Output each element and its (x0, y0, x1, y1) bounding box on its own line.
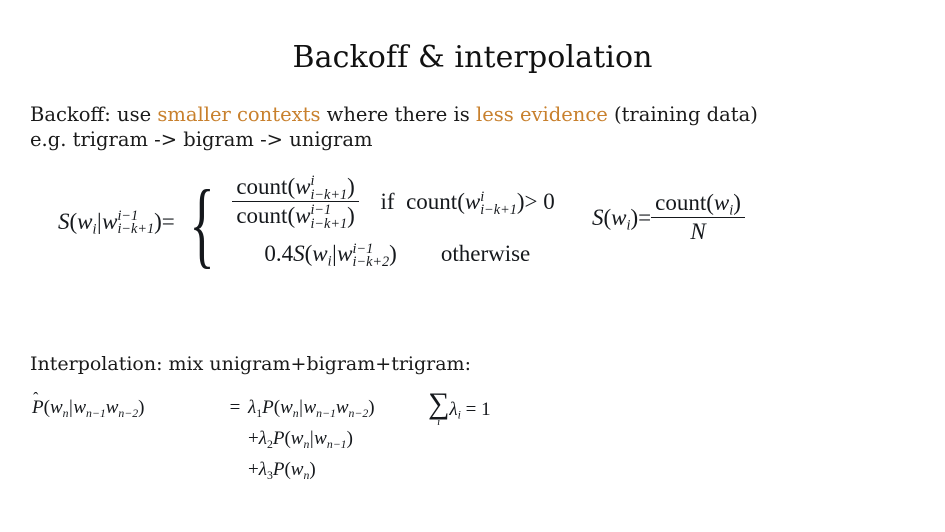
term1-w3-sub: n−2 (349, 407, 369, 420)
term2-w2: w (314, 428, 327, 449)
unigram-close-paren: ) (630, 205, 638, 230)
condition-count-label: count (406, 189, 457, 214)
interpolation-lhs-w2-sub: n−1 (86, 407, 106, 420)
interpolation-lhs-w2: w (73, 397, 86, 418)
unigram-numerator-close-paren: ) (733, 190, 741, 215)
condition-close-paren: ) (517, 189, 525, 214)
interpolation-rhs-term-2: +λ2P(wn|wn−1) (248, 423, 353, 454)
backoff-lhs-equals: = (162, 209, 175, 234)
slide-title: Backoff & interpolation (0, 40, 945, 75)
case2-w-sub: i (328, 254, 332, 270)
interpolation-lhs-w: w (50, 397, 63, 418)
denominator-count-label: count (236, 203, 287, 228)
condition-w: w (465, 189, 480, 214)
interpolation-P-hat: ˆP (32, 392, 44, 423)
denominator-close-paren: ) (347, 203, 355, 228)
backoff-description-line: Backoff: use smaller contexts where ther… (30, 101, 758, 129)
backoff-case1-numerator: count(wii−k+1) (232, 174, 358, 201)
denominator-open-paren: ( (287, 203, 295, 228)
backoff-lhs-S: S (58, 209, 70, 234)
numerator-count-label: count (236, 174, 287, 199)
term1-P: P (262, 397, 274, 418)
condition-relation: > 0 (525, 189, 555, 214)
backoff-case1-condition: if count(wii−k+1)> 0 (365, 189, 555, 214)
unigram-equals: = (638, 205, 651, 230)
backoff-case-1: count(wii−k+1) count(wi−1i−k+1) if count… (222, 176, 554, 231)
lambda-sum-equals-one: = 1 (466, 399, 491, 420)
lambda-sum-symbol: λ (449, 399, 457, 420)
interpolation-lhs: ˆP(wn|wn−1wn−2) (32, 392, 222, 423)
term1-w-sub: n (293, 407, 299, 420)
backoff-text-segment-5: (training data) (608, 103, 758, 126)
equation-backoff-lhs: S(wi|wi−1i−k+1)= (58, 209, 177, 235)
backoff-lhs-w2: w (102, 209, 117, 234)
term2-w2-sub: n−1 (327, 438, 347, 451)
unigram-numerator: count(wi) (651, 190, 745, 217)
unigram-fraction: count(wi) N (651, 190, 745, 245)
interpolation-heading: Interpolation: mix unigram+bigram+trigra… (30, 350, 471, 378)
backoff-case1-denominator: count(wi−1i−k+1) (232, 201, 358, 229)
interpolation-lhs-w3-sub: n−2 (118, 407, 138, 420)
equation-backoff-cases: count(wii−k+1) count(wi−1i−k+1) if count… (222, 176, 554, 267)
interpolation-rhs-term-3: +λ3P(wn) (248, 454, 316, 485)
term2-w: w (291, 428, 304, 449)
term2-P: P (273, 428, 285, 449)
lambda-3-symbol: λ (259, 459, 267, 480)
denominator-w: w (295, 203, 310, 228)
case2-condition-otherwise: otherwise (397, 241, 530, 266)
backoff-case1-fraction: count(wii−k+1) count(wi−1i−k+1) (232, 174, 358, 229)
interpolation-equals: = (222, 392, 248, 423)
term3-w: w (291, 459, 304, 480)
backoff-text-segment-3: where there is (320, 103, 476, 126)
interpolation-row-2: +λ2P(wn|wn−1) (32, 423, 375, 454)
interpolation-lhs-w-sub: n (63, 407, 69, 420)
case2-S: S (293, 241, 305, 266)
numerator-w: w (295, 174, 310, 199)
case2-w: w (312, 241, 327, 266)
term1-w: w (280, 397, 293, 418)
term2-close-paren: ) (347, 428, 353, 449)
term1-w2-sub: n−1 (316, 407, 336, 420)
equation-lambda-sum: ∑iλi = 1 (428, 392, 491, 429)
term1-w3: w (336, 397, 349, 418)
highlight-smaller-contexts: smaller contexts (157, 103, 320, 126)
backoff-text-segment-1: Backoff: use (30, 103, 157, 126)
term1-close-paren: ) (368, 397, 374, 418)
unigram-w: w (611, 205, 626, 230)
interpolation-lhs-w3: w (106, 397, 119, 418)
sigma-glyph-icon: ∑ (428, 391, 449, 417)
condition-open-paren: ( (457, 189, 465, 214)
lambda-2-symbol: λ (259, 428, 267, 449)
term3-P: P (273, 459, 285, 480)
unigram-numerator-open-paren: ( (706, 190, 714, 215)
equation-backoff: S(wi|wi−1i−k+1)= { count(wii−k+1) count(… (58, 176, 555, 267)
unigram-S: S (592, 205, 604, 230)
term3-close-paren: ) (309, 459, 315, 480)
term3-plus: + (248, 459, 259, 480)
hat-accent-icon: ˆ (33, 383, 38, 414)
unigram-numerator-w: w (714, 190, 729, 215)
interpolation-rhs-term-1: λ1P(wn|wn−1wn−2) (248, 392, 375, 423)
summation-symbol: ∑i (428, 391, 449, 428)
interpolation-row-3: +λ3P(wn) (32, 454, 375, 485)
backoff-example-line: e.g. trigram -> bigram -> unigram (30, 126, 373, 154)
equation-interpolation: ˆP(wn|wn−1wn−2)=λ1P(wn|wn−1wn−2) +λ2P(wn… (32, 392, 375, 485)
backoff-case-2: 0.4S(wi|wi−1i−k+2)otherwise (222, 231, 554, 267)
unigram-denominator: N (651, 217, 745, 245)
interpolation-row-1: ˆP(wn|wn−1wn−2)=λ1P(wn|wn−1wn−2) (32, 392, 375, 423)
interpolation-lhs-close-paren: ) (138, 397, 144, 418)
case2-coefficient: 0.4 (264, 241, 293, 266)
lambda-1-symbol: λ (248, 397, 256, 418)
term1-w2: w (303, 397, 316, 418)
numerator-open-paren: ( (287, 174, 295, 199)
backoff-lhs-w: w (77, 209, 92, 234)
numerator-close-paren: ) (347, 174, 355, 199)
condition-if-keyword: if (381, 189, 395, 214)
term2-plus: + (248, 428, 259, 449)
equation-unigram: S(wi)= count(wi) N (592, 192, 745, 247)
piecewise-brace: { (189, 194, 214, 254)
highlight-less-evidence: less evidence (476, 103, 608, 126)
unigram-numerator-count-label: count (655, 190, 706, 215)
backoff-lhs-close-paren: ) (154, 209, 162, 234)
case2-w2: w (337, 241, 352, 266)
case2-close-paren: ) (389, 241, 397, 266)
